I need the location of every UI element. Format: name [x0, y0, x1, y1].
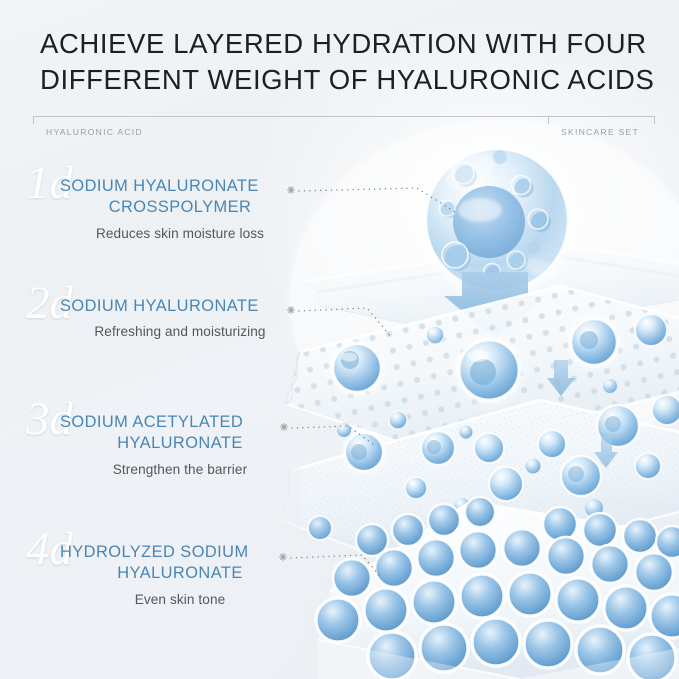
ingredient-name-1-line-2: CROSSPOLYMER: [30, 197, 330, 218]
title-line-2: DIFFERENT WEIGHT OF HYALURONIC ACIDS: [40, 62, 640, 98]
meta-label-skincare-set: SKINCARE SET: [561, 127, 639, 137]
ingredient-name-2-line-1: SODIUM HYALURONATE: [30, 296, 330, 317]
meta-bar: HYALURONIC ACID SKINCARE SET: [33, 116, 655, 142]
ingredient-description-4: Even skin tone: [30, 590, 330, 610]
ingredient-entry-3: 3d SODIUM ACETYLATED HYALURONATE Strengt…: [30, 412, 330, 479]
ingredient-name-1-line-1: SODIUM HYALURONATE: [30, 176, 330, 197]
ingredient-entry-1: 1d SODIUM HYALURONATE CROSSPOLYMER Reduc…: [30, 176, 330, 243]
ingredient-entry-4: 4d HYDROLYZED SODIUM HYALURONATE Even sk…: [30, 542, 330, 609]
meta-label-hyaluronic-acid: HYALURONIC ACID: [46, 127, 143, 137]
ingredient-name-3-line-1: SODIUM ACETYLATED: [30, 412, 330, 433]
ingredient-description-2: Refreshing and moisturizing: [30, 322, 330, 342]
ingredient-description-3: Strengthen the barrier: [30, 460, 330, 480]
title-line-1: ACHIEVE LAYERED HYDRATION WITH FOUR: [40, 26, 640, 62]
page-title: ACHIEVE LAYERED HYDRATION WITH FOUR DIFF…: [40, 26, 640, 98]
ingredient-name-4-line-1: HYDROLYZED SODIUM: [30, 542, 330, 563]
ingredient-entry-2: 2d SODIUM HYALURONATE Refreshing and moi…: [30, 296, 330, 342]
ingredient-name-4-line-2: HYALURONATE: [30, 563, 330, 584]
ingredient-description-1: Reduces skin moisture loss: [30, 224, 330, 244]
meta-tick-left: [33, 116, 34, 124]
meta-rule: [33, 116, 655, 117]
infographic-poster: ACHIEVE LAYERED HYDRATION WITH FOUR DIFF…: [0, 0, 679, 679]
meta-tick-right: [654, 116, 655, 124]
ingredient-name-3-line-2: HYALURONATE: [30, 433, 330, 454]
meta-tick-middle: [548, 116, 549, 124]
